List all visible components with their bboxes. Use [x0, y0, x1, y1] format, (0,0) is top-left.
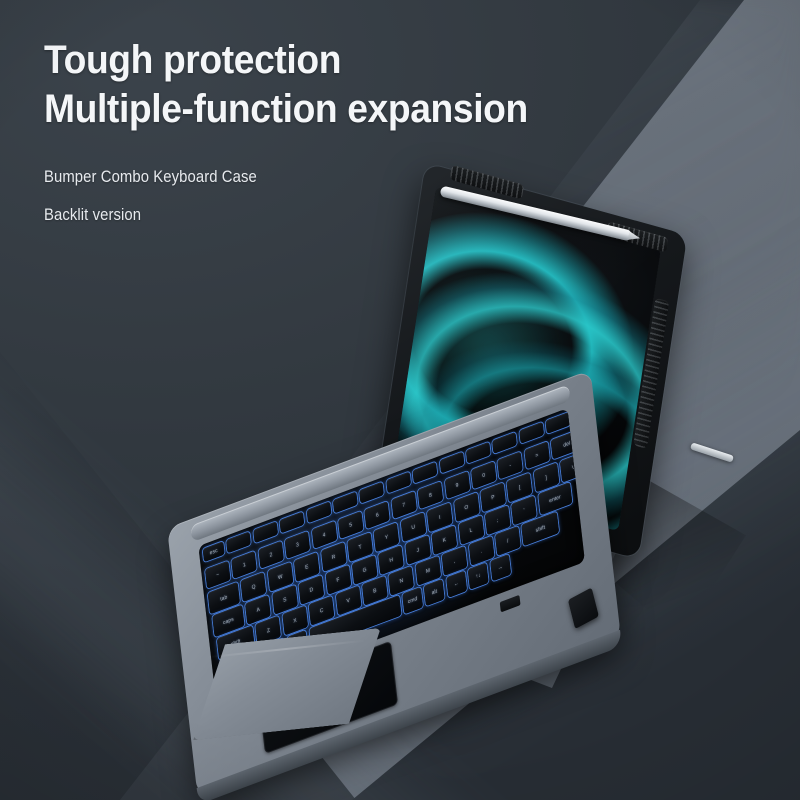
marketing-copy: Tough protection Multiple-function expan…: [44, 36, 684, 225]
product-name-label: Bumper Combo Keyboard Case: [44, 168, 620, 187]
headline-line-1: Tough protection: [44, 36, 639, 85]
product-marketing-image: Tough protection Multiple-function expan…: [0, 0, 800, 800]
variant-label: Backlit version: [44, 206, 620, 225]
headline-line-2: Multiple-function expansion: [44, 85, 639, 134]
